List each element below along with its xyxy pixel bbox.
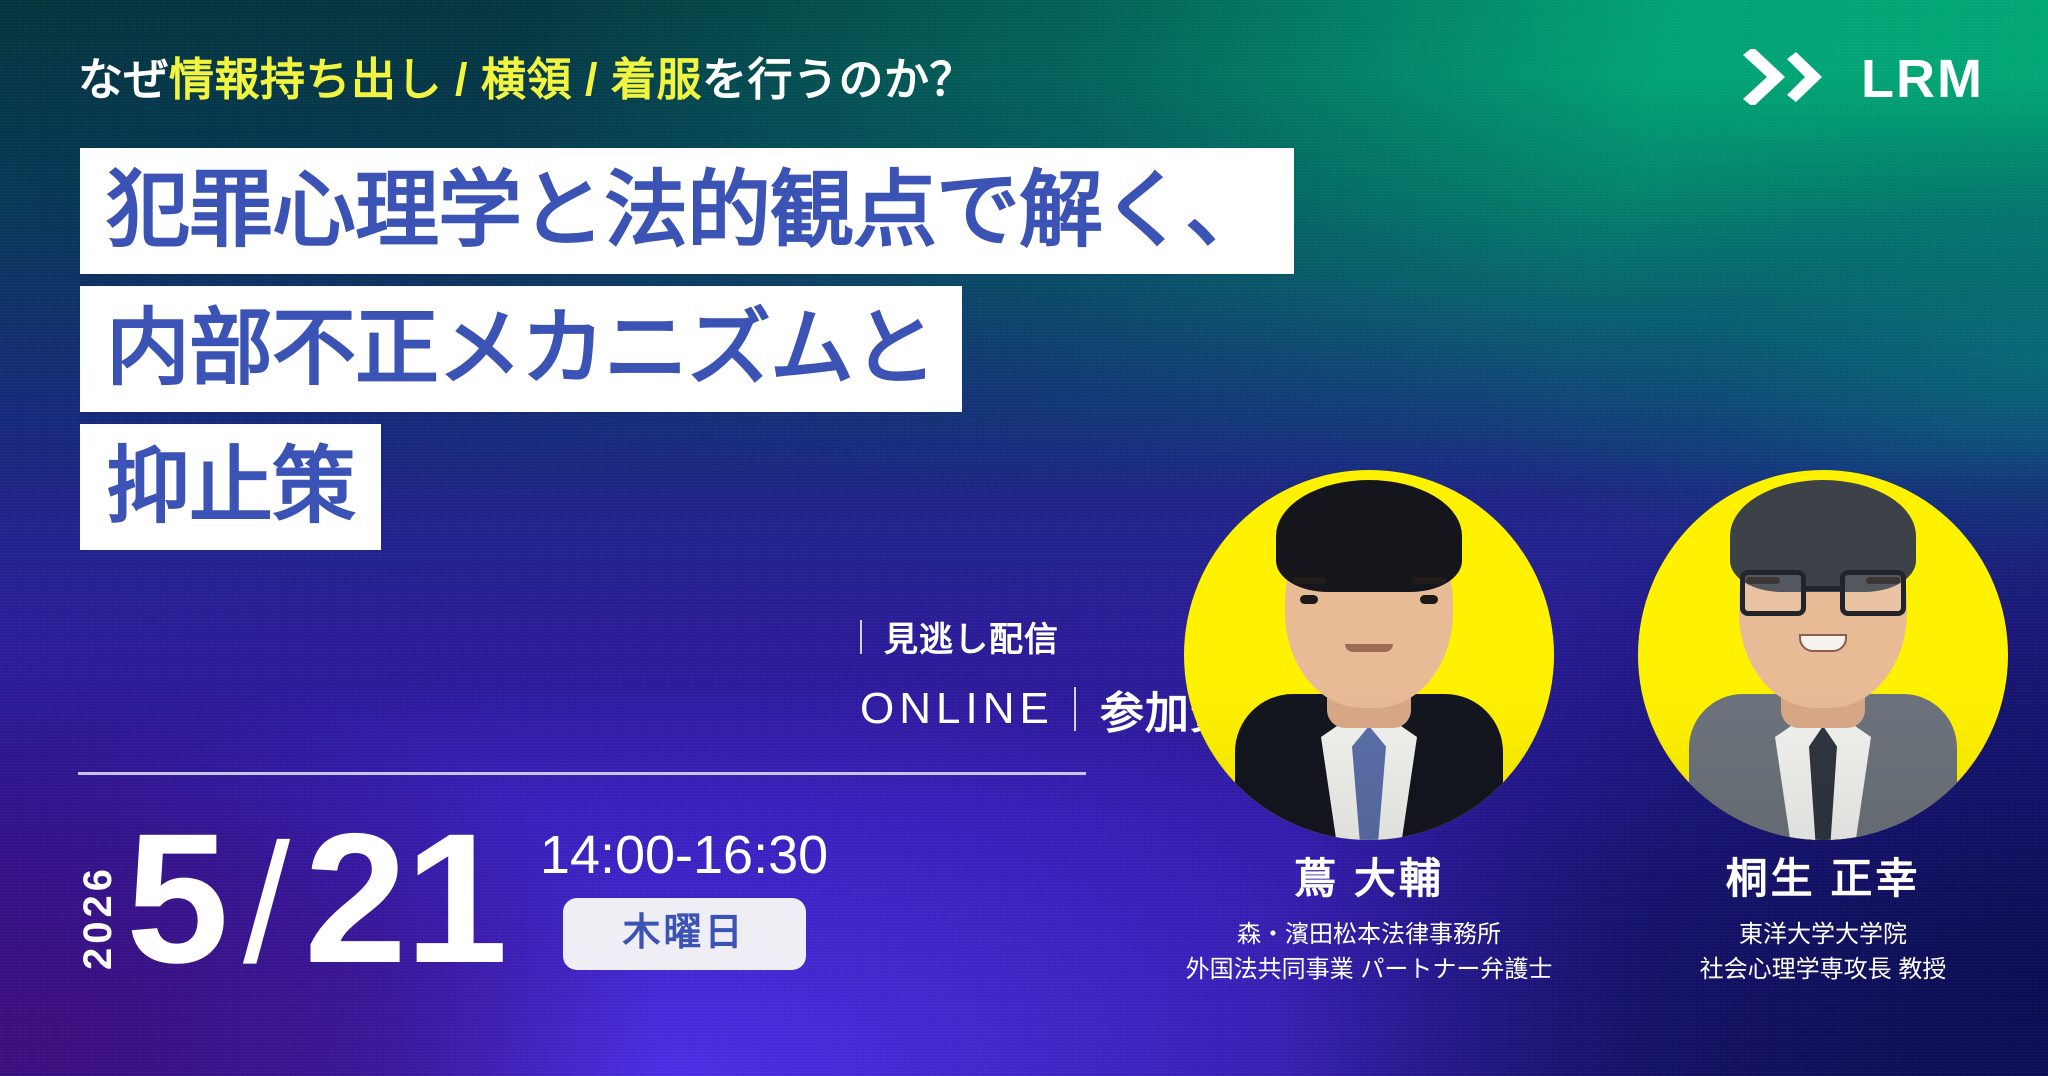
divider-bar-icon-2 — [1074, 687, 1076, 731]
speaker-affiliation: 森・濱田松本法律事務所 外国法共同事業 パートナー弁護士 — [1186, 918, 1553, 988]
speaker-affiliation-line-2: 外国法共同事業 パートナー弁護士 — [1186, 953, 1553, 988]
divider-bar-icon — [860, 620, 862, 654]
speaker-name: 桐生 正幸 — [1726, 858, 1921, 900]
event-month-day: 5 / 21 — [126, 814, 506, 984]
horizontal-divider — [78, 772, 1086, 775]
event-date: 2026 5 / 21 14:00-16:30 木曜日 — [78, 800, 828, 984]
banner-header: なぜ情報持ち出し / 横領 / 着服を行うのか？ LRM — [78, 42, 2008, 116]
title-line-2: 内部不正メカニズムと — [80, 286, 962, 412]
speaker-name: 蔦 大輔 — [1294, 858, 1444, 900]
lrm-logo-text: LRM — [1861, 52, 1984, 106]
speaker-affiliation: 東洋大学大学院 社会心理学専攻長 教授 — [1700, 918, 1947, 988]
double-chevron-icon — [1741, 49, 1845, 110]
archive-row: 見逃し配信 — [860, 612, 1059, 661]
event-day: 21 — [304, 814, 506, 984]
event-time-group: 14:00-16:30 木曜日 — [540, 828, 828, 970]
speaker-card: 桐生 正幸 東洋大学大学院 社会心理学専攻長 教授 — [1638, 470, 2008, 988]
speaker-affiliation-line-1: 森・濱田松本法律事務所 — [1186, 918, 1553, 953]
event-year: 2026 — [78, 800, 118, 970]
speaker-card: 蔦 大輔 森・濱田松本法律事務所 外国法共同事業 パートナー弁護士 — [1184, 470, 1554, 988]
title-line-1: 犯罪心理学と法的観点で解く、 — [80, 148, 1294, 274]
lrm-logo[interactable]: LRM — [1741, 49, 2008, 110]
event-month: 5 — [126, 814, 227, 984]
photo-fade-overlay — [1638, 470, 2008, 840]
event-weekday-badge: 木曜日 — [563, 898, 806, 970]
kicker-text-trailing: を行うのか？ — [702, 54, 975, 105]
webinar-banner: なぜ情報持ち出し / 横領 / 着服を行うのか？ LRM 犯罪心理学と法的観点で… — [0, 0, 2048, 1076]
speaker-affiliation-line-1: 東洋大学大学院 — [1700, 918, 1947, 953]
event-time: 14:00-16:30 — [540, 828, 828, 882]
kicker-text-highlight: 情報持ち出し / 横領 / 着服 — [169, 54, 702, 105]
main-title: 犯罪心理学と法的観点で解く、 内部不正メカニズムと 抑止策 — [80, 148, 1294, 550]
date-separator: / — [243, 826, 288, 982]
speaker-affiliation-line-2: 社会心理学専攻長 教授 — [1700, 953, 1947, 988]
kicker-text-leading: なぜ — [78, 54, 169, 105]
speaker-photo-kiryu — [1638, 470, 2008, 840]
speaker-photo-tsuta — [1184, 470, 1554, 840]
speaker-list: 蔦 大輔 森・濱田松本法律事務所 外国法共同事業 パートナー弁護士 — [1184, 470, 2008, 988]
title-line-3: 抑止策 — [80, 424, 381, 550]
archive-label: 見逃し配信 — [884, 612, 1059, 661]
online-label: ONLINE — [860, 684, 1054, 734]
photo-fade-overlay — [1184, 470, 1554, 840]
kicker-headline: なぜ情報持ち出し / 横領 / 着服を行うのか？ — [78, 57, 975, 102]
